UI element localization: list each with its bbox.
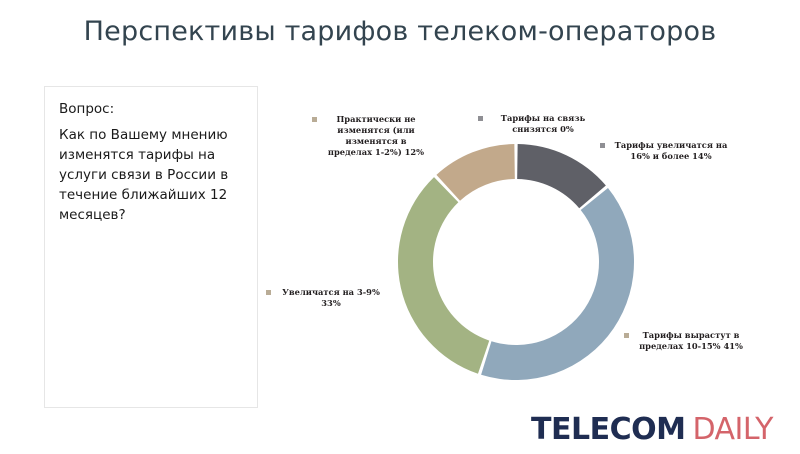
page-title: Перспективы тарифов телеком-операторов [0, 16, 800, 47]
callout-text-increase-16-plus: Тарифы увеличатся на 16% и более 14% [610, 140, 732, 162]
callout-text-grow-10-15: Тарифы вырастут в пределах 10-15% 41% [634, 330, 748, 352]
donut-chart-svg [396, 142, 636, 382]
callout-label-increase-16-plus: Тарифы увеличатся на 16% и более 14% [600, 140, 732, 162]
slide-canvas: Перспективы тарифов телеком-операторов В… [0, 0, 800, 454]
callout-text-decrease: Тарифы на связь снизятся 0% [488, 113, 598, 135]
callout-text-increase-3-9: Увеличатся на 3-9% 33% [276, 287, 386, 309]
donut-slice-group [398, 144, 634, 380]
donut-slice [517, 144, 606, 208]
legend-marker-grow-10-15 [624, 333, 629, 338]
legend-marker-increase-16-plus [600, 143, 605, 148]
legend-marker-increase-3-9 [266, 290, 271, 295]
callout-label-no-change: Практически не изменятся (или изменятся … [312, 114, 430, 158]
legend-marker-no-change [312, 117, 317, 122]
logo-word-telecom: TELECOM [531, 412, 685, 447]
logo-word-daily: DAILY [692, 412, 773, 447]
donut-chart [396, 142, 636, 382]
question-label: Вопрос: [59, 101, 243, 117]
question-text: Как по Вашему мнению изменятся тарифы на… [59, 126, 243, 226]
telecom-daily-logo: TELECOMDAILY [531, 412, 773, 447]
donut-slice [398, 177, 489, 374]
callout-label-increase-3-9: Увеличатся на 3-9% 33% [266, 287, 386, 309]
legend-marker-decrease [478, 116, 483, 121]
question-card: Вопрос: Как по Вашему мнению изменятся т… [44, 86, 258, 408]
callout-label-decrease: Тарифы на связь снизятся 0% [478, 113, 598, 135]
donut-slice [481, 188, 634, 380]
callout-label-grow-10-15: Тарифы вырастут в пределах 10-15% 41% [624, 330, 748, 352]
callout-text-no-change: Практически не изменятся (или изменятся … [322, 114, 430, 158]
